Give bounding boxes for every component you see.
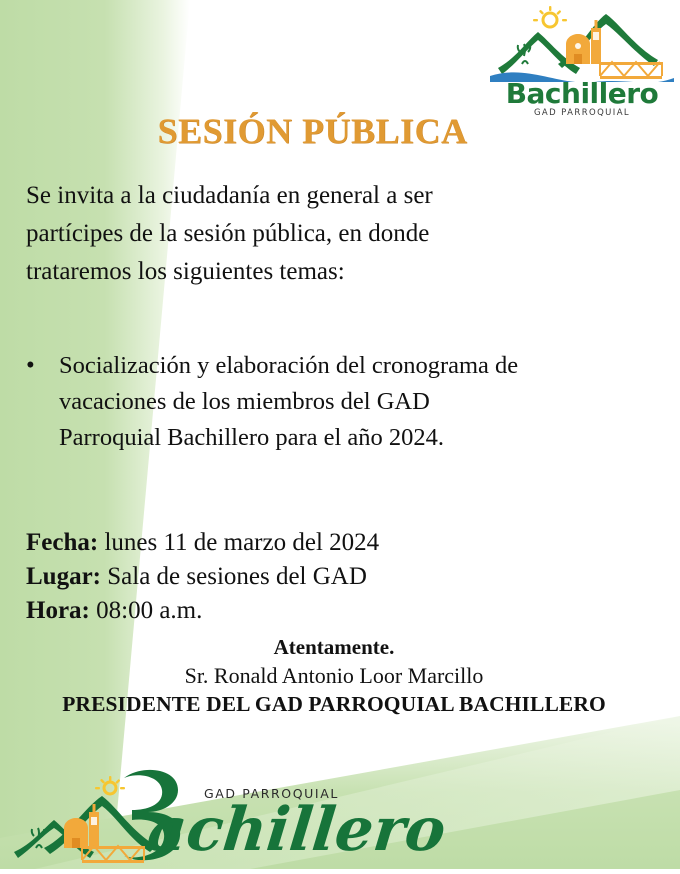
list-item-text: Socialización y elaboración del cronogra… [59,348,658,456]
footer-logo: GAD PARROQUIAL achillero [6,760,406,869]
list-item: • Socialización y elaboración del cronog… [26,348,658,456]
signature-block: Atentamente. Sr. Ronald Antonio Loor Mar… [0,634,668,718]
mountain-icon [44,796,156,854]
detail-value-fecha: lunes 11 de marzo del 2024 [104,529,379,556]
intro-line: Se invita a la ciudadanía en general a s… [26,177,658,215]
footer-logo-wordmark: achillero [145,800,449,860]
detail-row-lugar: Lugar: Sala de sesiones del GAD [26,562,586,592]
intro-line: partícipes de la sesión pública, en dond… [26,215,658,253]
detail-row-fecha: Fecha: lunes 11 de marzo del 2024 [26,528,586,558]
detail-label-fecha: Fecha: [26,529,98,556]
bullet-marker: • [26,348,59,456]
detail-value-lugar: Sala de sesiones del GAD [107,563,367,590]
list-item-line: Socialización y elaboración del cronogra… [59,348,658,384]
intro-paragraph: Se invita a la ciudadanía en general a s… [26,177,658,291]
page-title: SESIÓN PÚBLICA [0,110,625,152]
topics-list: • Socialización y elaboración del cronog… [26,348,658,456]
signature-role: PRESIDENTE DEL GAD PARROQUIAL BACHILLERO [0,690,668,718]
header-logo-emblem [488,2,676,82]
sun-icon [95,776,125,794]
church-icon [64,804,99,848]
list-item-line: vacaciones de los miembros del GAD [59,384,658,420]
detail-label-hora: Hora: [26,597,90,624]
intro-line: trataremos los siguientes temas: [26,253,658,291]
church-icon [566,20,601,64]
detail-value-hora: 08:00 a.m. [96,597,202,624]
event-details: Fecha: lunes 11 de marzo del 2024 Lugar:… [26,528,586,630]
list-item-line: Parroquial Bachillero para el año 2024. [59,420,658,456]
sun-icon [533,6,567,27]
detail-row-hora: Hora: 08:00 a.m. [26,596,586,626]
signature-name: Sr. Ronald Antonio Loor Marcillo [0,661,668,690]
header-logo-wordmark: Bachillero [488,80,676,108]
header-logo: Bachillero GAD PARROQUIAL [488,2,676,120]
signature-closing: Atentamente. [0,634,668,661]
detail-label-lugar: Lugar: [26,563,101,590]
